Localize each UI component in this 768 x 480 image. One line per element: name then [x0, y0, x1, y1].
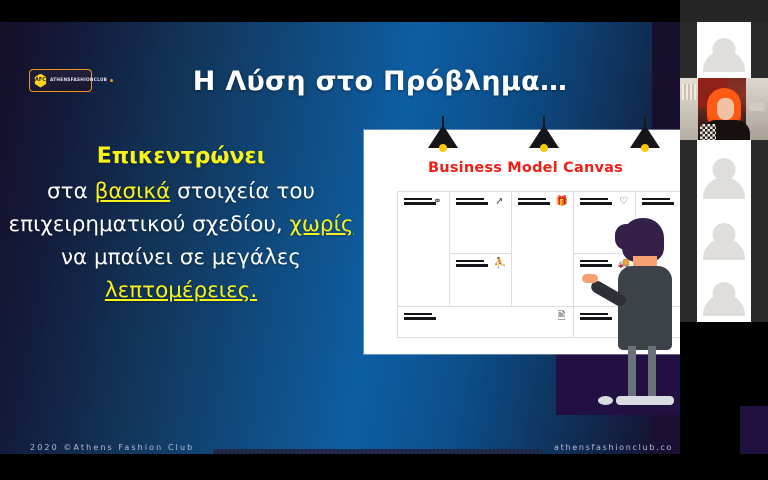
hanging-lamp-icon-2: [527, 118, 561, 152]
body-line3-highlight: χωρίς: [290, 212, 354, 237]
participant-tile-3[interactable]: [680, 206, 768, 266]
hexagon-logo-icon: AFC: [34, 74, 47, 88]
cell-text-bars: [518, 198, 550, 207]
avatar: [697, 140, 751, 206]
webcam-bookshelf: [682, 84, 696, 100]
body-line1-post: στοιχεία του: [170, 179, 315, 204]
avatar-body-icon: [703, 238, 745, 260]
body-line3-post: να μπαίνει σε: [61, 245, 205, 270]
person-icon: ⛹: [494, 258, 506, 270]
hanging-lamp-icon-1: [426, 118, 460, 152]
body-line1-highlight: βασικά: [95, 179, 171, 204]
participant-tile-4[interactable]: [680, 266, 768, 322]
top-letterbox-bar: [0, 0, 768, 22]
canvas-cell-value-proposition: 🎁: [511, 191, 574, 307]
canvas-cell-key-activities: ➚: [449, 191, 512, 254]
slide-title: Η Λύση στο Πρόβλημα…: [140, 66, 620, 97]
gift-icon: 🎁: [556, 196, 568, 208]
body-line4-pre: μεγάλες: [212, 245, 301, 270]
heart-icon: ♡: [618, 196, 630, 208]
webcam-video: [680, 78, 768, 140]
cell-text-bars: [456, 260, 488, 269]
footer-copyright: 2020 ©Athens Fashion Club: [30, 443, 194, 452]
avatar: [697, 22, 751, 78]
board-title: Business Model Canvas: [364, 160, 687, 176]
avatar-body-icon: [703, 294, 745, 316]
bottom-letterbox-bar: [0, 454, 768, 480]
presenter-illustration: [600, 218, 692, 408]
document-icon: 🖹: [556, 311, 568, 323]
cell-text-bars: [580, 198, 612, 207]
presenter-platform: [616, 396, 674, 405]
slide-body-text: Επικεντρώνει στα βασικά στοιχεία του επι…: [6, 140, 356, 307]
logo-label: ATHENSFASHIONCLUB: [50, 78, 107, 83]
webcam-person-face: [717, 98, 734, 120]
canvas-cell-cost-structure: 🖹: [397, 306, 574, 338]
presenter-leg-right: [648, 346, 656, 400]
active-speaker-tile[interactable]: [680, 78, 768, 140]
avatar-card: [697, 22, 751, 78]
avatar-card: [697, 266, 751, 322]
avatar-card: [697, 206, 751, 266]
presentation-slide: AFC ATHENSFASHIONCLUB Η Λύση στο Πρόβλημ…: [0, 22, 768, 454]
participant-video-rail[interactable]: [680, 0, 768, 480]
body-line4-highlight: λεπτομέρειες.: [105, 278, 257, 303]
cell-text-bars: [642, 198, 674, 207]
handshake-icon: ⚭: [432, 196, 444, 208]
cell-text-bars: [404, 313, 436, 322]
presenter-leg-left: [628, 346, 636, 400]
presenter-floor-dot: [598, 396, 613, 405]
video-rail-purple-fill: [740, 406, 768, 454]
presenter-hand: [582, 274, 598, 283]
webcam-background-object: [749, 102, 765, 111]
canvas-cell-key-partners: ⚭: [397, 191, 450, 307]
presenter-body: [618, 266, 672, 350]
avatar-body-icon: [703, 177, 745, 199]
avatar-body-icon: [703, 50, 745, 72]
participant-tile-1[interactable]: [680, 22, 768, 78]
canvas-cell-key-resources: ⛹: [449, 253, 512, 307]
hanging-lamp-icon-3: [628, 118, 662, 152]
footer-website: athensfashionclub.co: [554, 443, 673, 452]
screen-root: AFC ATHENSFASHIONCLUB Η Λύση στο Πρόβλημ…: [0, 0, 768, 480]
cell-text-bars: [456, 198, 488, 207]
avatar: [697, 266, 751, 322]
body-lead-word: Επικεντρώνει: [6, 140, 356, 173]
webcam-person-sleeve: [700, 124, 716, 140]
logo-accent-dot: [110, 79, 113, 82]
athens-fashion-club-logo: AFC ATHENSFASHIONCLUB: [29, 69, 92, 92]
avatar-card: [697, 140, 751, 206]
participant-tile-2[interactable]: [680, 140, 768, 206]
key-icon: ➚: [494, 196, 506, 208]
body-line1-pre: στα: [47, 179, 95, 204]
body-line2: επιχειρηματικού σχεδίου,: [9, 212, 283, 237]
avatar: [697, 206, 751, 266]
